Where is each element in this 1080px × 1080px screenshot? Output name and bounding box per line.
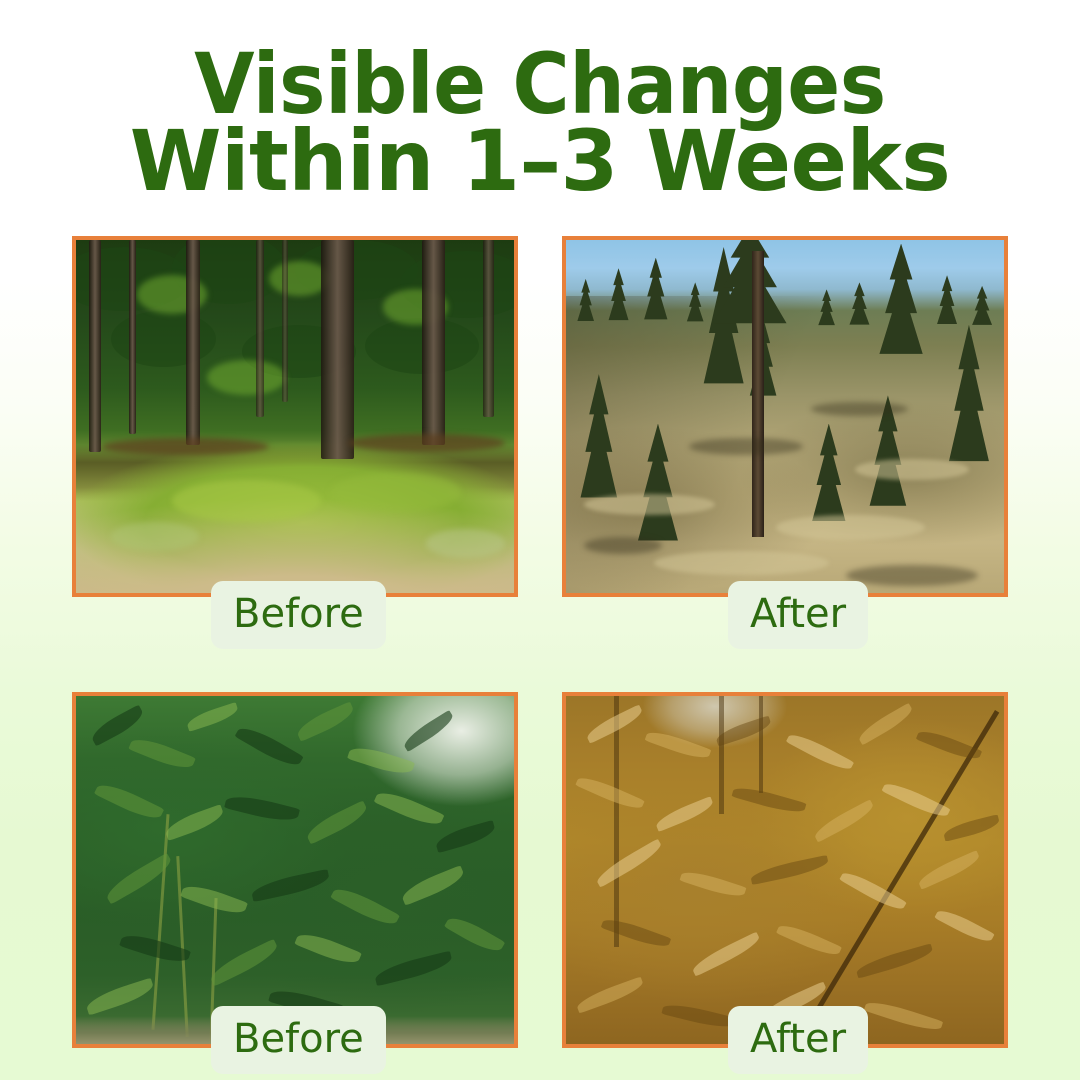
dead-bamboo-culm <box>759 696 763 793</box>
photo-frame-after-forest <box>562 236 1008 597</box>
moss-highlight <box>426 529 505 557</box>
photo-frame-before-bamboo <box>72 692 518 1048</box>
photo-frame-before-forest <box>72 236 518 597</box>
fallen-log <box>348 434 506 452</box>
page-title: Visible Changes Within 1–3 Weeks <box>0 44 1080 203</box>
photo-label-after-bamboo: After <box>728 1006 868 1074</box>
photo-label-before-bamboo: Before <box>211 1006 386 1074</box>
tree-trunk <box>186 240 201 445</box>
fallen-log <box>102 438 268 456</box>
dry-grass-highlight <box>855 459 969 480</box>
photo-before-forest <box>76 240 514 593</box>
title-line-2: Within 1–3 Weeks <box>5 121 1074 202</box>
dead-bamboo-culm <box>614 696 619 947</box>
photo-frame-after-bamboo <box>562 692 1008 1048</box>
poster-canvas: Visible Changes Within 1–3 Weeks <box>0 0 1080 1080</box>
tree-trunk <box>89 240 100 452</box>
photo-after-bamboo <box>566 696 1004 1044</box>
ground-shadow <box>846 565 977 586</box>
canopy-blob <box>111 311 216 367</box>
foreground-pine-trunk <box>752 251 763 537</box>
photo-label-before-forest: Before <box>211 581 386 649</box>
photo-before-bamboo <box>76 696 514 1044</box>
tree-trunk <box>282 240 288 402</box>
photo-after-forest <box>566 240 1004 593</box>
tree-trunk <box>483 240 494 417</box>
dry-grass-highlight <box>776 515 925 540</box>
tree-trunk <box>422 240 445 445</box>
tree-trunk-foreground <box>321 240 353 459</box>
tree-trunk <box>129 240 137 434</box>
dead-bamboo-culm <box>719 696 723 814</box>
ground-shadow <box>689 438 803 456</box>
moss-highlight <box>330 473 461 512</box>
ground-shadow <box>584 537 663 555</box>
tree-trunk <box>256 240 265 417</box>
dry-grass-highlight <box>654 551 829 576</box>
photo-label-after-forest: After <box>728 581 868 649</box>
moss-highlight <box>111 522 199 550</box>
